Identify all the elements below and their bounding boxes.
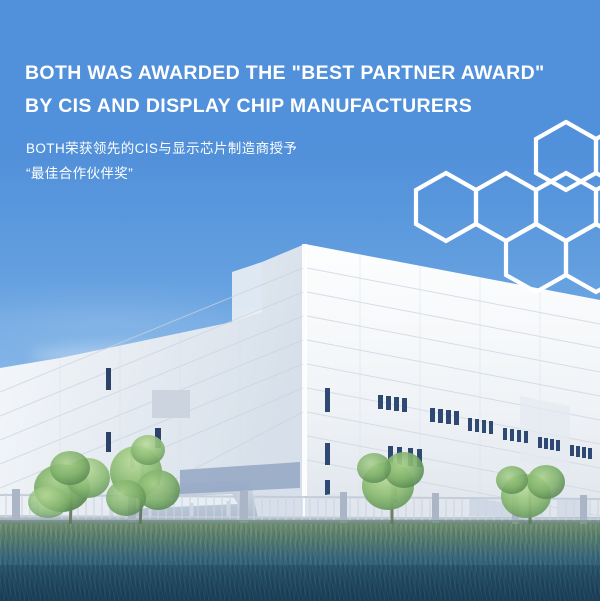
headline-line-1: BOTH WAS AWARDED THE "BEST PARTNER AWARD…: [25, 57, 570, 90]
hexagon-cell: [416, 173, 476, 241]
hexagon-pattern-svg: [400, 110, 600, 325]
hexagon-pattern-graphic: [400, 110, 600, 325]
hexagon-cell: [596, 122, 600, 190]
parapet-step: [232, 262, 262, 322]
hexagon-cell: [536, 122, 596, 190]
grass-texture: [0, 524, 600, 601]
tree-group: [0, 420, 600, 530]
tree: [357, 452, 424, 530]
hexagon-cell: [566, 224, 600, 292]
trees-svg: [0, 420, 600, 530]
subheadline-line-1: BOTH荣获领先的CIS与显示芯片制造商授予: [26, 136, 297, 161]
hexagon-cell: [596, 173, 600, 241]
tree: [28, 451, 110, 530]
headline-line-2: BY CIS AND DISPLAY CHIP MANUFACTURERS: [25, 90, 570, 123]
headline-block: BOTH WAS AWARDED THE "BEST PARTNER AWARD…: [25, 57, 570, 123]
hexagon-cell: [506, 224, 566, 292]
tree: [106, 435, 180, 530]
facade-service-panel: [152, 390, 190, 418]
subheadline-block: BOTH荣获领先的CIS与显示芯片制造商授予 “最佳合作伙伴奖”: [26, 136, 297, 186]
subheadline-line-2: “最佳合作伙伴奖”: [26, 161, 297, 186]
award-announcement-banner: BOTH WAS AWARDED THE "BEST PARTNER AWARD…: [0, 0, 600, 601]
